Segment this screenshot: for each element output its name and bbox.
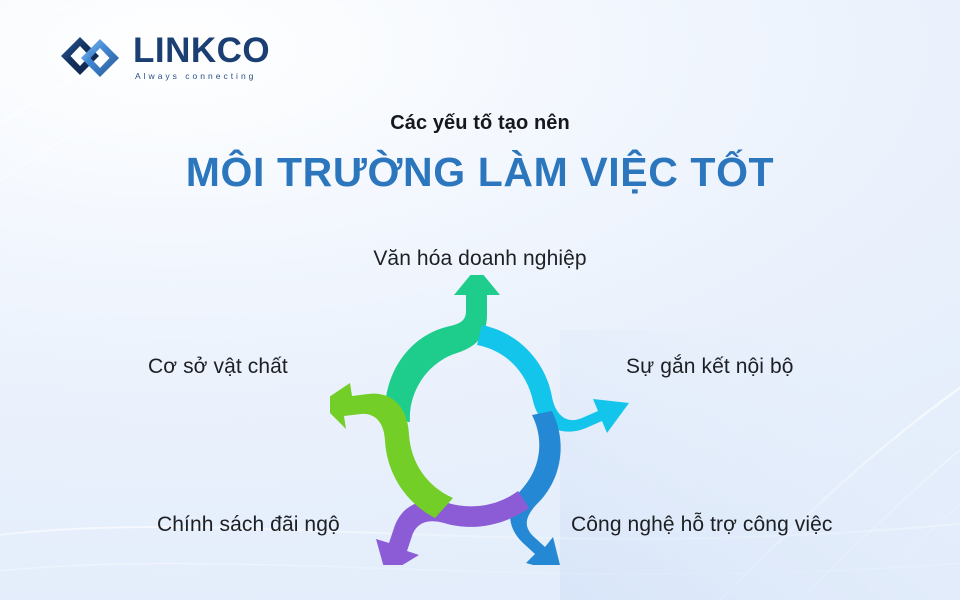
brand-wordmark-group: LINKCO Always connecting [133, 33, 270, 81]
arrow-facility [330, 383, 453, 518]
brand-tagline: Always connecting [133, 72, 270, 81]
brand-logo[interactable]: LINKCO Always connecting [57, 33, 270, 81]
page-title-block: Các yếu tố tạo nên MÔI TRƯỜNG LÀM VIỆC T… [0, 112, 960, 196]
slide-canvas: LINKCO Always connecting Các yếu tố tạo … [0, 0, 960, 600]
arrow-technology [510, 411, 562, 565]
arrow-policy [376, 491, 529, 565]
page-subtitle: Các yếu tố tạo nên [0, 112, 960, 135]
page-title: MÔI TRƯỜNG LÀM VIỆC TỐT [0, 149, 960, 196]
label-culture: Văn hóa doanh nghiệp [0, 247, 960, 271]
factors-diagram: Văn hóa doanh nghiệp Sự gắn kết nội bộ C… [0, 225, 960, 565]
label-policy: Chính sách đãi ngộ [157, 513, 340, 537]
arrow-culture [385, 275, 500, 422]
brand-name: LINKCO [133, 33, 270, 68]
label-facility: Cơ sở vật chất [148, 355, 288, 379]
label-technology: Công nghệ hỗ trợ công việc [571, 513, 833, 537]
linkco-interlocking-diamonds-logo [57, 34, 123, 80]
label-engagement: Sự gắn kết nội bộ [626, 355, 794, 379]
